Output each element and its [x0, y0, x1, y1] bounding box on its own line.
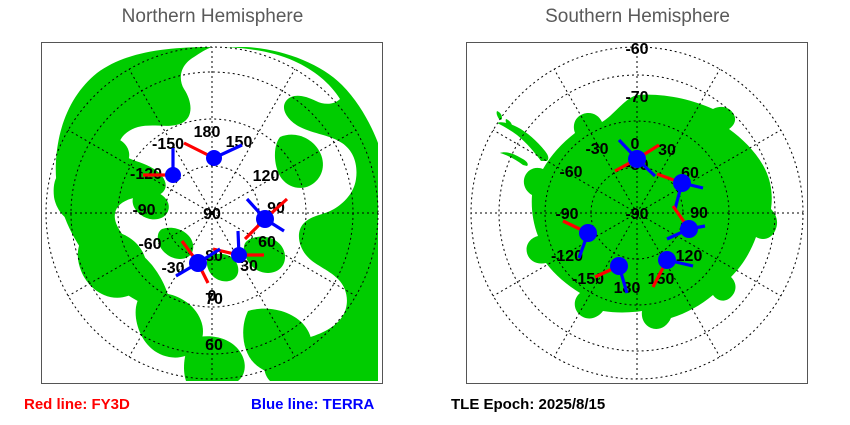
- lon-label-neg90: -90: [132, 202, 155, 219]
- lon-label-90: 90: [690, 205, 708, 222]
- lon-label-neg30: -30: [585, 141, 608, 158]
- lon-label-neg150: -150: [152, 136, 184, 153]
- lat-label-neg70: -70: [625, 89, 648, 106]
- lon-label-neg90: -90: [555, 206, 578, 223]
- panel-title-northern: Northern Hemisphere: [0, 6, 425, 28]
- satellite-marker[interactable]: [245, 199, 287, 239]
- panel-northern-hemisphere: Northern Hemisphere: [0, 0, 425, 425]
- screenshot-root: Northern Hemisphere: [0, 0, 850, 425]
- panel-title-southern: Southern Hemisphere: [425, 6, 850, 28]
- lat-label-neg60: -60: [625, 43, 648, 58]
- lon-label-neg60: -60: [559, 164, 582, 181]
- legend-blue-line-terra: Blue line: TERRA: [251, 396, 374, 413]
- lon-label-30: 30: [658, 142, 676, 159]
- lon-label-120: 120: [253, 168, 280, 185]
- plot-area-southern[interactable]: 0 30 60 90 120 150 180 -150 -120 -90 -60…: [466, 42, 808, 384]
- lat-label-90: 90: [203, 206, 221, 223]
- lat-label-70: 70: [205, 291, 223, 308]
- lon-label-180: 180: [194, 124, 221, 141]
- tle-epoch-label: TLE Epoch: 2025/8/15: [451, 396, 605, 413]
- lon-label-neg60: -60: [138, 236, 161, 253]
- lat-label-neg90: -90: [625, 206, 648, 223]
- plot-area-northern[interactable]: 0 30 60 90 120 150 180 -150 -120 -90 -60…: [41, 42, 383, 384]
- lat-label-60: 60: [205, 337, 223, 354]
- legend-red-line-fy3d: Red line: FY3D: [24, 396, 130, 413]
- lon-label-150: 150: [226, 134, 253, 151]
- panel-southern-hemisphere: Southern Hemisphere: [425, 0, 850, 425]
- northern-polar-map: 0 30 60 90 120 150 180 -150 -120 -90 -60…: [42, 43, 382, 383]
- lon-label-60: 60: [258, 234, 276, 251]
- southern-polar-map: 0 30 60 90 120 150 180 -150 -120 -90 -60…: [467, 43, 807, 383]
